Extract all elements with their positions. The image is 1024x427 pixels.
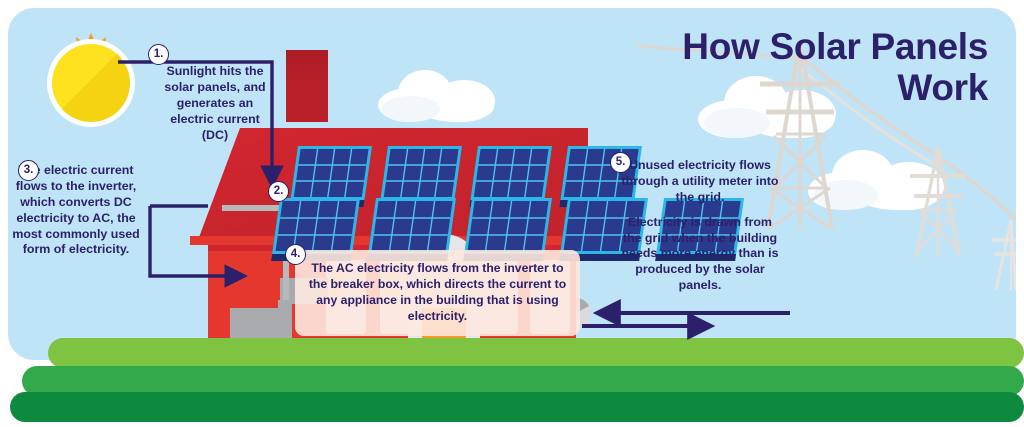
step-text-5: Unused electricity flows through a utili… [620,158,780,294]
step-marker-5: 5. [610,152,631,173]
infographic-canvas: How Solar Panels Work 1. Sunlight hits t… [0,0,1024,427]
step-4-callout-box: The AC electricity flows from the invert… [295,250,580,336]
page-title: How Solar Panels Work [588,26,988,109]
grass-layer-dark [10,392,1024,422]
step-marker-3: 3. [18,160,39,181]
step-marker-2: 2. [268,181,289,202]
title-line-2: Work [588,67,988,108]
step-text-1: Sunlight hits the solar panels, and gene… [156,64,274,143]
step-5-paragraph-1: Unused electricity flows through a utili… [620,158,780,206]
step-4-paragraph-1: The AC electricity flows from the invert… [304,261,571,324]
grass-layer-light [48,338,1024,368]
step-marker-1: 1. [148,44,169,65]
step-marker-4: 4. [285,244,306,265]
title-line-1: How Solar Panels [588,26,988,67]
step-5-paragraph-2: Electricity is drawn from the grid when … [620,215,780,294]
step-1-paragraph-1: Sunlight hits the solar panels, and gene… [156,64,274,143]
